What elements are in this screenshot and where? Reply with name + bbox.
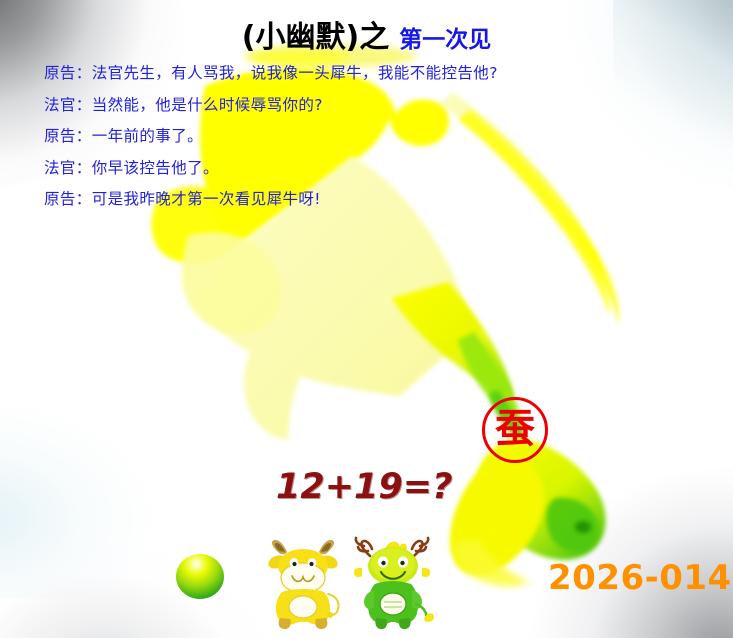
dialogue-line: 原告：法官先生，有人骂我，说我像一头犀牛，我能不能控告他? [44, 66, 644, 82]
seal-character: 蚕 [495, 409, 535, 449]
humor-poster: (小幽默)之第一次见 原告：法官先生，有人骂我，说我像一头犀牛，我能不能控告他?… [0, 0, 733, 638]
dragon-mascot [350, 534, 436, 632]
dialogue-block: 原告：法官先生，有人骂我，说我像一头犀牛，我能不能控告他? 法官：当然能，他是什… [44, 66, 644, 224]
red-seal-stamp: 蚕 [482, 397, 548, 463]
math-equation: 12+19=? [276, 467, 452, 507]
dialogue-line: 法官：当然能，他是什么时候辱骂你的? [44, 98, 644, 114]
dialogue-line: 法官：你早该控告他了。 [44, 161, 644, 177]
dialogue-line: 原告：可是我昨晚才第一次看见犀牛呀! [44, 192, 644, 208]
corner-gradient-bottom-left [0, 523, 303, 638]
green-yellow-sphere [176, 554, 224, 599]
title-subtitle-text: 第一次见 [399, 27, 491, 53]
ox-mascot [262, 536, 344, 632]
corner-gradient-bottom-left-tint [0, 398, 160, 598]
corner-gradient-bottom-right [508, 461, 733, 638]
issue-number: 2026-014 [548, 558, 732, 598]
poster-title: (小幽默)之第一次见 [0, 12, 733, 56]
title-main-text: (小幽默)之 [242, 20, 389, 55]
dialogue-line: 原告：一年前的事了。 [44, 129, 644, 145]
